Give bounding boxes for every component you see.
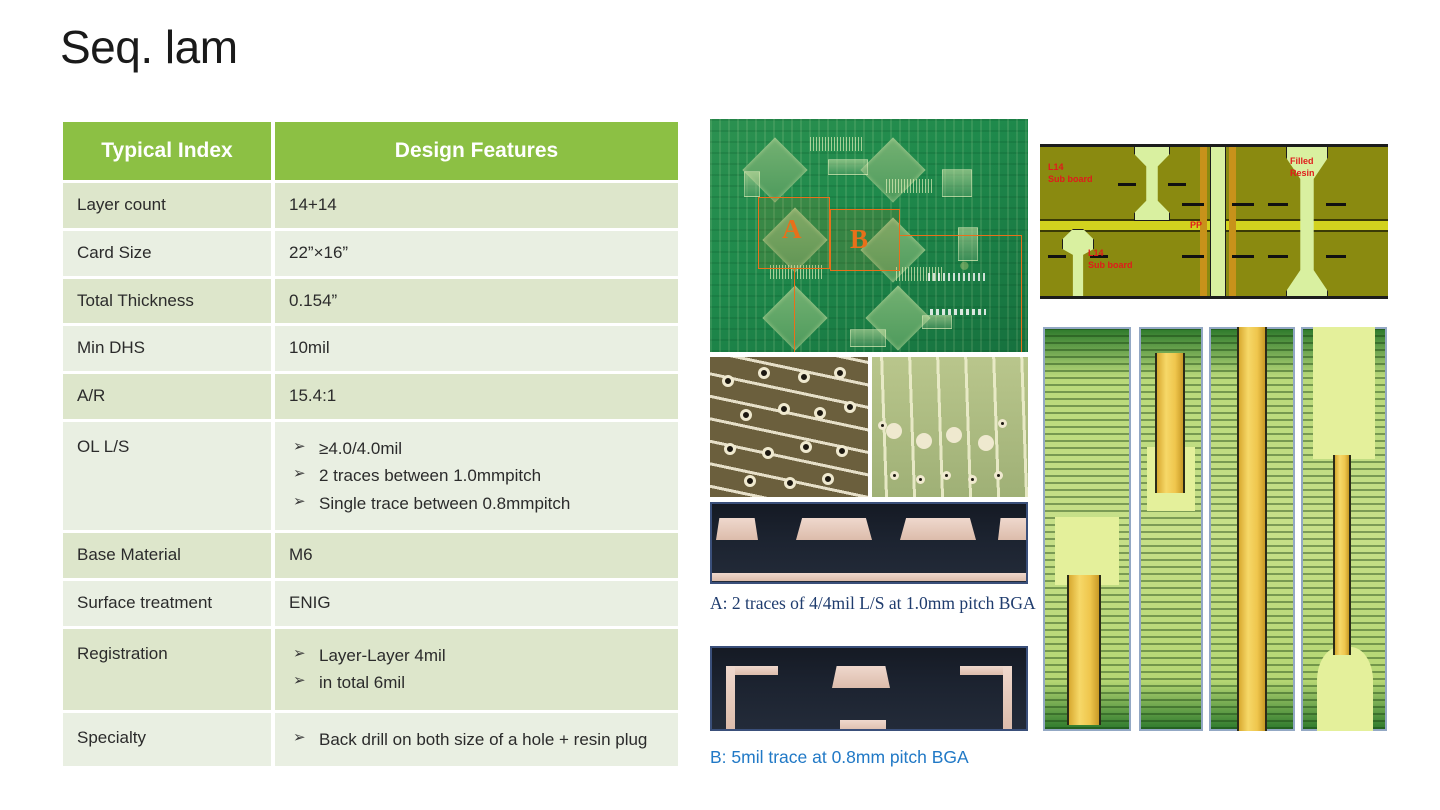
list-item: ➢2 traces between 1.0mmpitch bbox=[289, 462, 664, 490]
diagram-label-filled-resin: Filled Resin bbox=[1290, 155, 1330, 179]
table-row: Registration ➢Layer-Layer 4mil ➢in total… bbox=[63, 629, 678, 710]
caption-a: A: 2 traces of 4/4mil L/S at 1.0mm pitch… bbox=[710, 592, 1040, 616]
arrow-bullet-icon: ➢ bbox=[293, 726, 306, 750]
trace-closeup-light-photo bbox=[872, 357, 1028, 497]
diagram-label-prepreg: PP bbox=[1190, 219, 1202, 231]
row-key: Registration bbox=[63, 629, 271, 710]
row-value: M6 bbox=[275, 533, 678, 578]
pcb-top-view-photo: A B bbox=[710, 119, 1028, 352]
via-micro-section-4 bbox=[1301, 327, 1387, 731]
list-item-label: Layer-Layer 4mil bbox=[319, 646, 446, 665]
table-row: Specialty ➢Back drill on both size of a … bbox=[63, 713, 678, 767]
via-micro-section-2 bbox=[1139, 327, 1203, 731]
row-value: ENIG bbox=[275, 581, 678, 626]
table-row: Base Material M6 bbox=[63, 533, 678, 578]
row-key: Base Material bbox=[63, 533, 271, 578]
table-row: Card Size 22”×16” bbox=[63, 231, 678, 276]
caption-b: B: 5mil trace at 0.8mm pitch BGA bbox=[710, 746, 1070, 769]
list-item: ➢in total 6mil bbox=[289, 669, 664, 697]
seq-lam-cross-section-diagram: L14 Sub board L14 Sub board PP Filled Re… bbox=[1040, 144, 1388, 299]
diagram-label-sub-board-bottom: L14 Sub board bbox=[1088, 247, 1133, 271]
diagram-label-sub-board-top: L14 Sub board bbox=[1048, 161, 1093, 185]
cross-section-photo-b bbox=[710, 646, 1028, 731]
slide-canvas: Seq. lam Typical Index Design Features L… bbox=[0, 0, 1440, 810]
arrow-bullet-icon: ➢ bbox=[293, 435, 306, 459]
row-value: 22”×16” bbox=[275, 231, 678, 276]
trace-closeup-dark-photo bbox=[710, 357, 868, 497]
row-key: A/R bbox=[63, 374, 271, 419]
table-row: Layer count 14+14 bbox=[63, 183, 678, 228]
table-row: Total Thickness 0.154” bbox=[63, 279, 678, 324]
list-item-label: in total 6mil bbox=[319, 673, 405, 692]
row-key: Surface treatment bbox=[63, 581, 271, 626]
row-value: ➢≥4.0/4.0mil ➢2 traces between 1.0mmpitc… bbox=[275, 422, 678, 531]
arrow-bullet-icon: ➢ bbox=[293, 642, 306, 666]
bullet-list: ➢≥4.0/4.0mil ➢2 traces between 1.0mmpitc… bbox=[289, 435, 664, 518]
list-item-label: Back drill on both size of a hole + resi… bbox=[319, 730, 647, 749]
list-item: ➢Back drill on both size of a hole + res… bbox=[289, 726, 664, 754]
row-value: 0.154” bbox=[275, 279, 678, 324]
arrow-bullet-icon: ➢ bbox=[293, 462, 306, 486]
list-item: ➢Single trace between 0.8mmpitch bbox=[289, 490, 664, 518]
annotation-leader-a bbox=[794, 269, 795, 352]
bullet-list: ➢Back drill on both size of a hole + res… bbox=[289, 726, 664, 754]
row-key: Layer count bbox=[63, 183, 271, 228]
row-value: 10mil bbox=[275, 326, 678, 371]
row-key: Specialty bbox=[63, 713, 271, 767]
table-row: A/R 15.4:1 bbox=[63, 374, 678, 419]
via-micro-section-1 bbox=[1043, 327, 1131, 731]
column-header-design-features: Design Features bbox=[275, 122, 678, 180]
row-key: Total Thickness bbox=[63, 279, 271, 324]
row-key: Min DHS bbox=[63, 326, 271, 371]
annotation-leader-b bbox=[1021, 235, 1022, 352]
table-row: Min DHS 10mil bbox=[63, 326, 678, 371]
table-row: Surface treatment ENIG bbox=[63, 581, 678, 626]
row-key: OL L/S bbox=[63, 422, 271, 531]
arrow-bullet-icon: ➢ bbox=[293, 669, 306, 693]
through-via-barrel bbox=[1210, 144, 1226, 299]
spec-table: Typical Index Design Features Layer coun… bbox=[63, 122, 678, 769]
table-row: OL L/S ➢≥4.0/4.0mil ➢2 traces between 1.… bbox=[63, 422, 678, 531]
list-item-label: Single trace between 0.8mmpitch bbox=[319, 494, 570, 513]
via-micro-section-3 bbox=[1209, 327, 1295, 731]
cross-section-photo-a bbox=[710, 502, 1028, 584]
hourglass-via-top bbox=[1134, 144, 1170, 221]
list-item: ➢≥4.0/4.0mil bbox=[289, 435, 664, 463]
table-header-row: Typical Index Design Features bbox=[63, 122, 678, 180]
column-header-typical-index: Typical Index bbox=[63, 122, 271, 180]
list-item-label: 2 traces between 1.0mmpitch bbox=[319, 466, 541, 485]
annotation-letter-a: A bbox=[782, 214, 802, 245]
row-key: Card Size bbox=[63, 231, 271, 276]
list-item: ➢Layer-Layer 4mil bbox=[289, 642, 664, 670]
annotation-letter-b: B bbox=[850, 224, 868, 255]
page-title: Seq. lam bbox=[60, 20, 238, 75]
bullet-list: ➢Layer-Layer 4mil ➢in total 6mil bbox=[289, 642, 664, 697]
list-item-label: ≥4.0/4.0mil bbox=[319, 439, 402, 458]
row-value: ➢Back drill on both size of a hole + res… bbox=[275, 713, 678, 767]
row-value: 15.4:1 bbox=[275, 374, 678, 419]
row-value: ➢Layer-Layer 4mil ➢in total 6mil bbox=[275, 629, 678, 710]
row-value: 14+14 bbox=[275, 183, 678, 228]
arrow-bullet-icon: ➢ bbox=[293, 490, 306, 514]
